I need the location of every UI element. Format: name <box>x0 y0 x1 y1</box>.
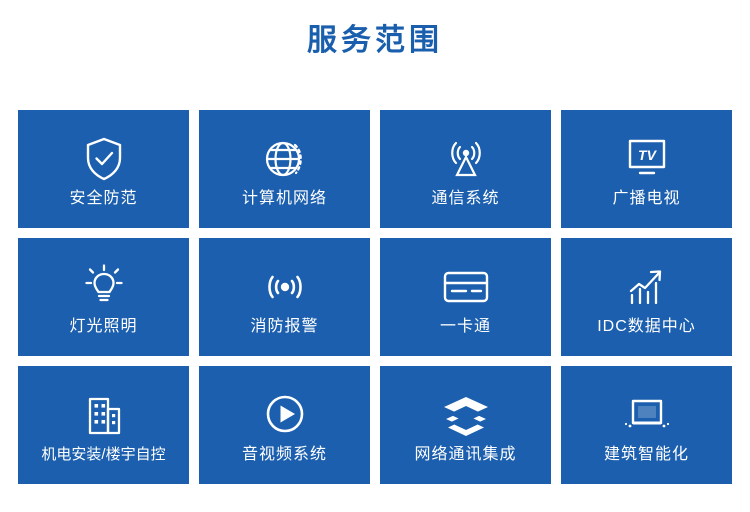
service-tile-label: 建筑智能化 <box>604 446 689 464</box>
service-tile-label: 安全防范 <box>69 190 137 208</box>
service-tile-one-card[interactable]: 一卡通 <box>380 238 551 356</box>
service-grid: 安全防范 计算机网络 <box>18 110 732 484</box>
service-tile-label: IDC数据中心 <box>597 318 696 336</box>
service-tile-security[interactable]: 安全防范 <box>18 110 189 228</box>
signal-alarm-icon <box>259 264 311 310</box>
service-scope-page: 服务范围 安全防范 <box>0 0 750 512</box>
card-icon <box>439 264 493 310</box>
service-tile-label: 广播电视 <box>612 190 680 208</box>
service-tile-label: 灯光照明 <box>69 318 137 336</box>
service-tile-label: 一卡通 <box>440 318 491 336</box>
service-tile-mep-building-automation[interactable]: 机电安装/楼宇自控 <box>18 366 189 484</box>
service-tile-idc-datacenter[interactable]: IDC数据中心 <box>561 238 732 356</box>
service-tile-label: 网络通讯集成 <box>414 446 516 464</box>
service-tile-intelligent-building[interactable]: 建筑智能化 <box>561 366 732 484</box>
light-bulb-icon <box>81 264 127 310</box>
service-tile-broadcast-tv[interactable]: TV 广播电视 <box>561 110 732 228</box>
service-tile-lighting[interactable]: 灯光照明 <box>18 238 189 356</box>
page-title: 服务范围 <box>0 0 750 56</box>
service-tile-computer-network[interactable]: 计算机网络 <box>199 110 370 228</box>
layers-stack-icon <box>440 392 492 438</box>
service-tile-network-integration[interactable]: 网络通讯集成 <box>380 366 551 484</box>
service-tile-label: 计算机网络 <box>242 190 327 208</box>
broadcast-tower-icon <box>443 136 489 182</box>
tv-monitor-icon: TV <box>622 136 672 182</box>
service-tile-fire-alarm[interactable]: 消防报警 <box>199 238 370 356</box>
shield-check-icon <box>83 136 125 182</box>
growth-chart-icon <box>623 264 671 310</box>
service-tile-audio-video[interactable]: 音视频系统 <box>199 366 370 484</box>
globe-network-icon <box>262 136 308 182</box>
service-tile-label: 音视频系统 <box>242 446 327 464</box>
service-tile-label: 通信系统 <box>431 190 499 208</box>
tv-icon-text: TV <box>638 147 658 163</box>
service-tile-label: 机电安装/楼宇自控 <box>41 447 165 464</box>
service-tile-label: 消防报警 <box>250 318 318 336</box>
screen-frame-icon <box>622 392 672 438</box>
building-icon <box>81 393 127 439</box>
play-circle-icon <box>262 392 308 438</box>
service-tile-communication[interactable]: 通信系统 <box>380 110 551 228</box>
